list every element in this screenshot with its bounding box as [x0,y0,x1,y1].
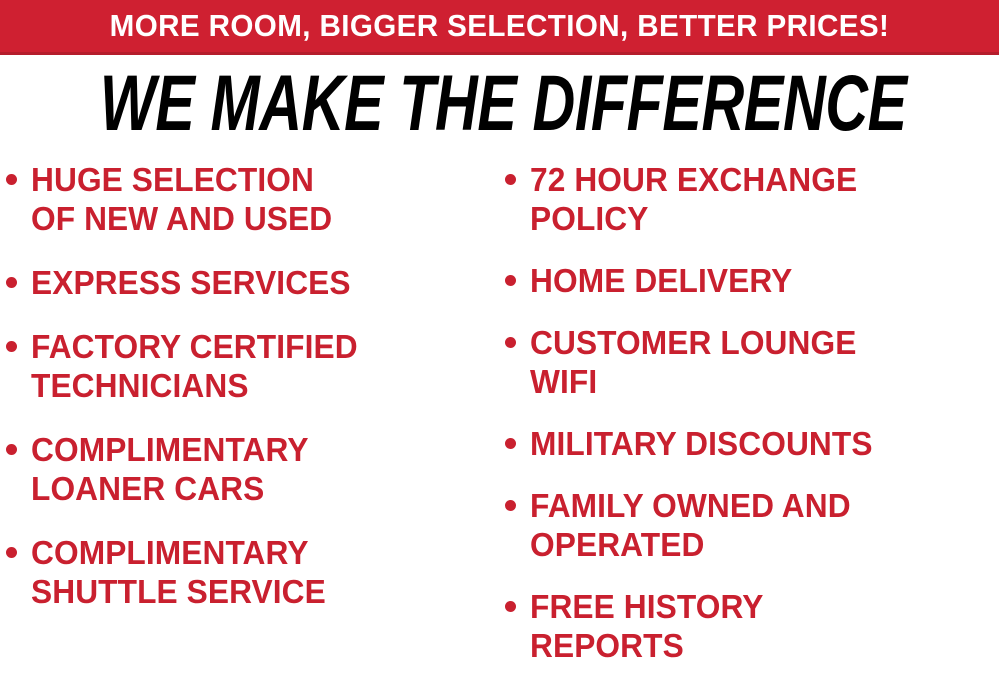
top-banner: MORE ROOM, BIGGER SELECTION, BETTER PRIC… [0,0,999,55]
list-item: HUGE SELECTION OF NEW AND USED [6,160,501,238]
list-item: 72 HOUR EXCHANGE POLICY [505,160,999,238]
list-item: HOME DELIVERY [505,261,999,300]
list-item-label: 72 HOUR EXCHANGE POLICY [530,160,980,238]
bullet-dot-icon [505,275,516,286]
bullet-dot-icon [6,341,17,352]
bullet-dot-icon [505,438,516,449]
list-item: FREE HISTORY REPORTS [505,587,999,665]
list-item-label: HOME DELIVERY [530,261,980,300]
bullet-dot-icon [6,444,17,455]
bullet-dot-icon [6,277,17,288]
list-item-label: EXPRESS SERVICES [31,263,482,302]
bullet-dot-icon [505,601,516,612]
list-item-label: HUGE SELECTION OF NEW AND USED [31,160,482,238]
list-item-label: CUSTOMER LOUNGE WIFI [530,323,980,401]
list-item: EXPRESS SERVICES [6,263,501,302]
bullet-dot-icon [505,174,516,185]
page-title: WE MAKE THE DIFFERENCE [100,63,899,144]
list-item: FAMILY OWNED AND OPERATED [505,486,999,564]
list-item: COMPLIMENTARY LOANER CARS [6,430,501,508]
bullet-dot-icon [505,500,516,511]
list-item-label: COMPLIMENTARY SHUTTLE SERVICE [31,533,482,611]
list-item-label: COMPLIMENTARY LOANER CARS [31,430,482,508]
list-item: COMPLIMENTARY SHUTTLE SERVICE [6,533,501,611]
list-item-label: FREE HISTORY REPORTS [530,587,980,665]
list-item: FACTORY CERTIFIED TECHNICIANS [6,327,501,405]
list-item-label: FAMILY OWNED AND OPERATED [530,486,980,564]
list-item-label: MILITARY DISCOUNTS [530,424,980,463]
benefits-column-left: HUGE SELECTION OF NEW AND USED EXPRESS S… [6,160,501,692]
benefits-columns: HUGE SELECTION OF NEW AND USED EXPRESS S… [0,160,999,692]
bullet-dot-icon [6,174,17,185]
bullet-dot-icon [6,547,17,558]
promotional-poster: MORE ROOM, BIGGER SELECTION, BETTER PRIC… [0,0,999,692]
benefits-column-right: 72 HOUR EXCHANGE POLICY HOME DELIVERY CU… [505,160,999,692]
list-item: CUSTOMER LOUNGE WIFI [505,323,999,401]
bullet-dot-icon [505,337,516,348]
list-item: MILITARY DISCOUNTS [505,424,999,463]
list-item-label: FACTORY CERTIFIED TECHNICIANS [31,327,482,405]
banner-headline-text: MORE ROOM, BIGGER SELECTION, BETTER PRIC… [22,0,976,52]
